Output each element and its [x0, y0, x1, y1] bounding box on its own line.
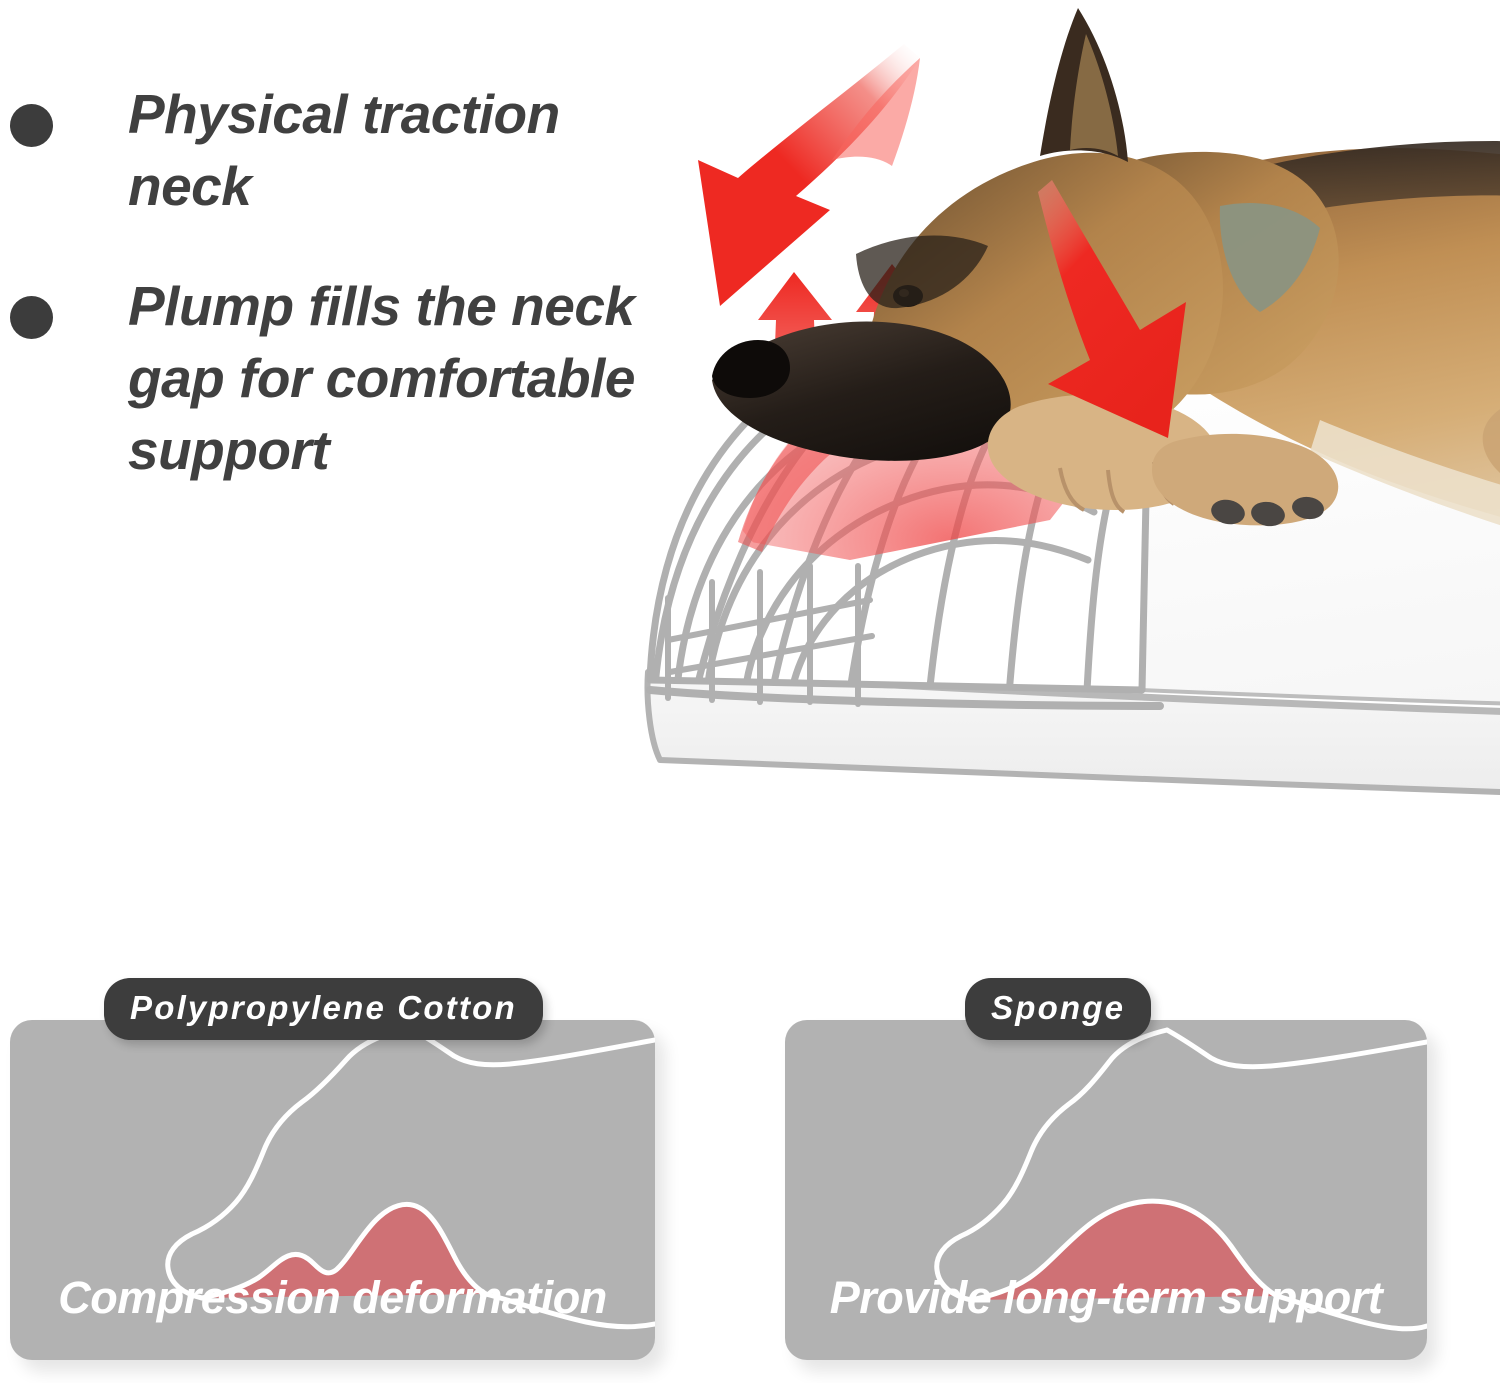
list-item: Physical traction neck [0, 78, 660, 222]
comparison-panel-sponge: Sponge Provide long-term support [785, 1020, 1427, 1360]
bullet-dot-icon [10, 104, 53, 147]
feature-text: Physical traction neck [128, 78, 660, 222]
panel-caption: Compression deformation [10, 1272, 655, 1324]
list-item: Plump fills the neck gap for comfortable… [0, 270, 660, 486]
feature-bullet-list: Physical traction neck Plump fills the n… [0, 78, 660, 534]
feature-text: Plump fills the neck gap for comfortable… [128, 270, 660, 486]
panel-pill-label: Polypropylene Cotton [104, 978, 543, 1040]
panel-caption: Provide long-term support [785, 1272, 1427, 1324]
bullet-dot-icon [10, 296, 53, 339]
panel-pill-label: Sponge [965, 978, 1151, 1040]
hero-illustration [620, 0, 1500, 880]
comparison-panel-cotton: Polypropylene Cotton Compression deforma… [10, 1020, 655, 1360]
